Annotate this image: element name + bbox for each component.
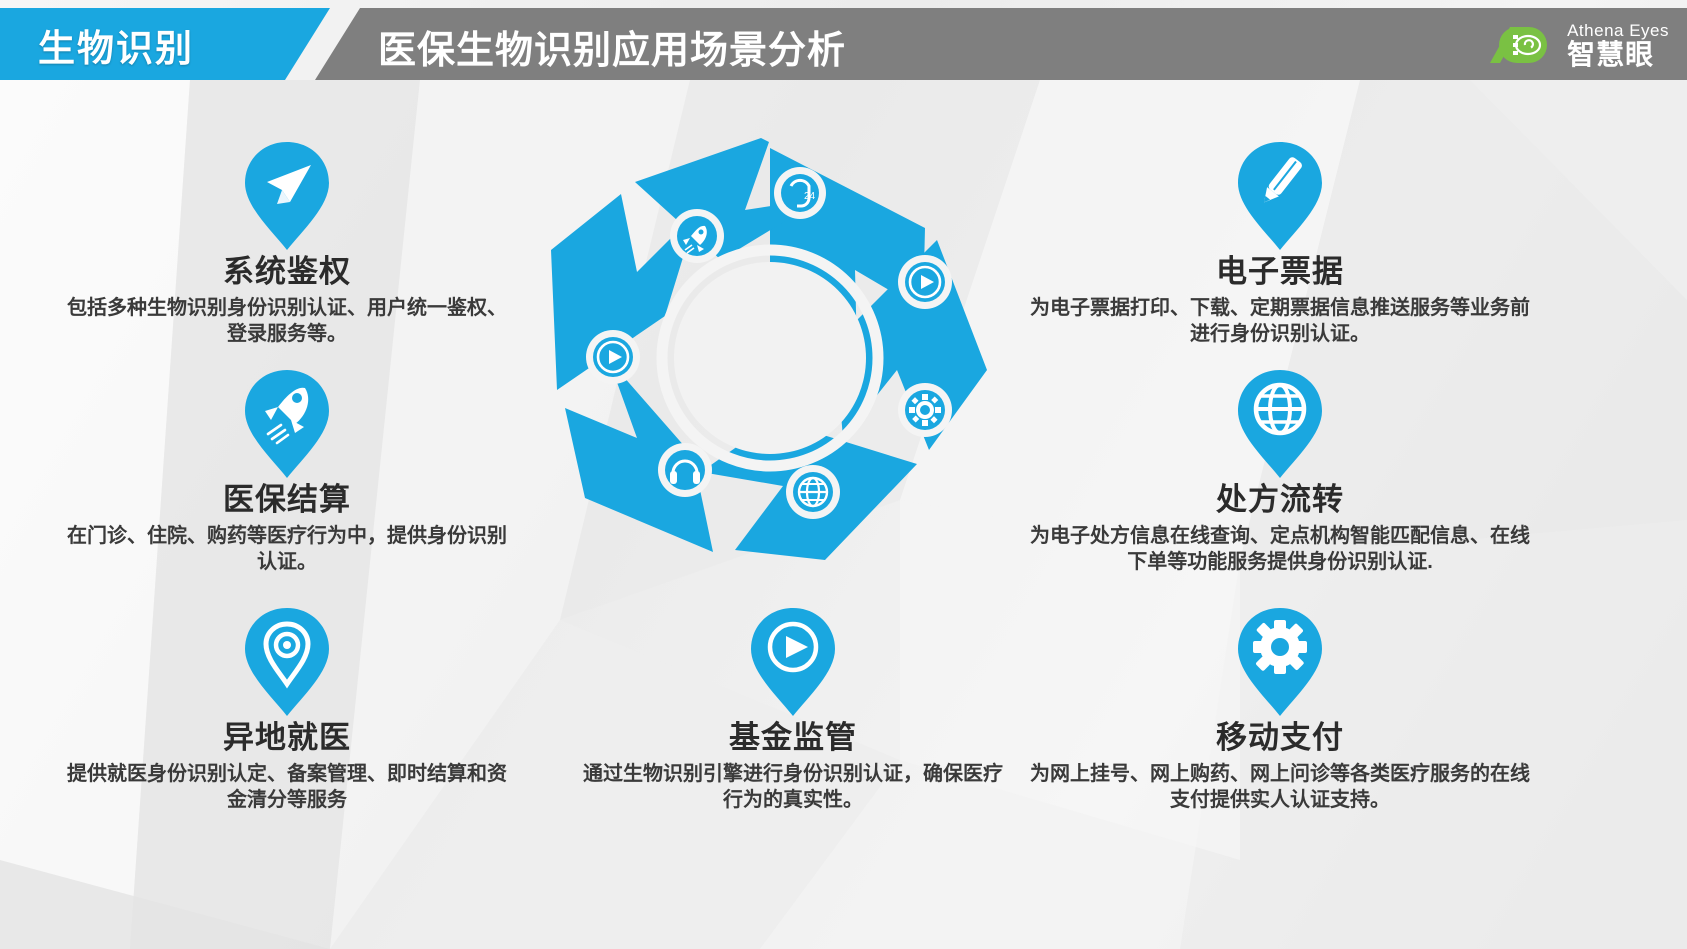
header-tag: 生物识别 [0,8,360,80]
badge-globe-icon [786,465,840,519]
card-title: 移动支付 [1030,720,1530,756]
card-title: 系统鉴权 [62,254,512,290]
card-description: 通过生物识别引擎进行身份识别认证，确保医疗行为的真实性。 [578,761,1008,814]
badge-play-right-icon [898,255,952,309]
card-description: 提供就医身份识别认定、备案管理、即时结算和资金清分等服务 [62,761,512,814]
svg-text:24: 24 [804,191,816,202]
card-description: 在门诊、住院、购药等医疗行为中，提供身份识别认证。 [62,523,512,576]
badge-gear-icon [898,383,952,437]
badge-24h-support-icon: 24 [774,167,826,219]
rocket-icon [241,368,333,480]
card-electronic-bill[interactable]: 电子票据 为电子票据打印、下载、定期票据信息推送服务等业务前进行身份识别认证。 [1030,140,1530,347]
slide-root: 生物识别 医保生物识别应用场景分析 Athena Eyes 智慧眼 [0,0,1687,949]
card-fund-supervision[interactable]: 基金监管 通过生物识别引擎进行身份识别认证，确保医疗行为的真实性。 [578,606,1008,813]
map-pin-icon [241,606,333,718]
card-remote-medical[interactable]: 异地就医 提供就医身份识别认定、备案管理、即时结算和资金清分等服务 [62,606,512,813]
card-description: 包括多种生物识别身份识别认证、用户统一鉴权、登录服务等。 [62,295,512,348]
hexagon-pinwheel-diagram: 24 [525,120,1015,590]
card-description: 为电子票据打印、下载、定期票据信息推送服务等业务前进行身份识别认证。 [1030,295,1530,348]
globe-icon [1234,368,1326,480]
card-description: 为网上挂号、网上购药、网上问诊等各类医疗服务的在线支付提供实人认证支持。 [1030,761,1530,814]
logo-text: Athena Eyes 智慧眼 [1567,22,1669,69]
badge-rocket-icon [670,209,724,263]
card-description: 为电子处方信息在线查询、定点机构智能匹配信息、在线下单等功能服务提供身份识别认证… [1030,523,1530,576]
header-tag-label: 生物识别 [38,18,194,72]
page-title: 医保生物识别应用场景分析 [378,19,846,74]
gear-icon [1234,606,1326,718]
play-icon [747,606,839,718]
card-title: 异地就医 [62,720,512,756]
logo-chinese-name: 智慧眼 [1567,41,1669,69]
card-prescription-circulation[interactable]: 处方流转 为电子处方信息在线查询、定点机构智能匹配信息、在线下单等功能服务提供身… [1030,368,1530,575]
card-title: 电子票据 [1030,254,1530,290]
card-title: 处方流转 [1030,482,1530,518]
pinwheel-svg: 24 [525,120,1015,590]
card-title: 医保结算 [62,482,512,518]
card-mobile-payment[interactable]: 移动支付 为网上挂号、网上购药、网上问诊等各类医疗服务的在线支付提供实人认证支持… [1030,606,1530,813]
card-title: 基金监管 [578,720,1008,756]
header: 生物识别 医保生物识别应用场景分析 Athena Eyes 智慧眼 [0,8,1687,80]
logo-english-name: Athena Eyes [1567,22,1669,39]
athena-eyes-mark-icon [1484,23,1558,67]
card-system-auth[interactable]: 系统鉴权 包括多种生物识别身份识别认证、用户统一鉴权、登录服务等。 [62,140,512,347]
paper-plane-icon [241,140,333,252]
brand-logo: Athena Eyes 智慧眼 [1484,16,1669,74]
badge-play-left-icon [586,330,640,384]
pencil-icon [1234,140,1326,252]
card-medical-settlement[interactable]: 医保结算 在门诊、住院、购药等医疗行为中，提供身份识别认证。 [62,368,512,575]
badge-headphones-icon [658,443,712,497]
